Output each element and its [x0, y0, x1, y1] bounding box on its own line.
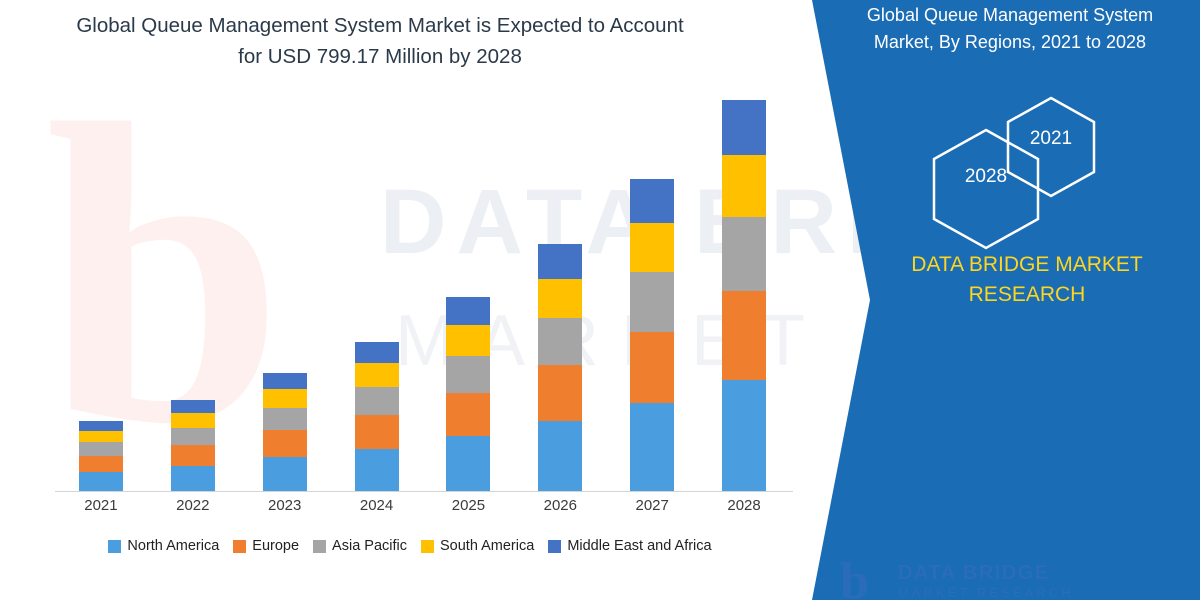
legend-swatch: [313, 540, 326, 553]
legend-swatch: [421, 540, 434, 553]
bar-segment: [538, 318, 582, 365]
legend-swatch: [233, 540, 246, 553]
footer-logo-letter: b: [840, 556, 869, 608]
brand-line-2: RESEARCH: [862, 280, 1192, 310]
bar-segment: [446, 297, 490, 324]
legend-swatch: [108, 540, 121, 553]
bar-group: [538, 244, 582, 492]
bar-segment: [630, 179, 674, 222]
footer-logo: b DATA BRIDGE MARKET RESEARCH: [840, 560, 1090, 600]
panel-title-line-2: Market, By Regions, 2021 to 2028: [830, 29, 1190, 56]
bar-segment: [79, 431, 123, 442]
footer-logo-line-1: DATA BRIDGE: [898, 562, 1050, 585]
page-title-line-1: Global Queue Management System Market is…: [0, 10, 760, 41]
hexagon-2021-label: 2021: [1005, 128, 1097, 150]
bar-segment: [171, 445, 215, 466]
bar-segment: [630, 332, 674, 403]
bar-segment: [263, 457, 307, 492]
panel-title-line-1: Global Queue Management System: [830, 2, 1190, 29]
bar-segment: [538, 279, 582, 319]
bar-segment: [446, 325, 490, 356]
bar-segment: [630, 272, 674, 332]
x-axis-label: 2026: [520, 497, 600, 514]
bar-segment: [171, 428, 215, 445]
brand-line-1: DATA BRIDGE MARKET: [862, 250, 1192, 280]
x-axis-label: 2023: [245, 497, 325, 514]
legend-item[interactable]: Asia Pacific: [313, 538, 407, 554]
bar-segment: [722, 380, 766, 492]
brand-name: DATA BRIDGE MARKET RESEARCH: [862, 250, 1192, 310]
bar-segment: [722, 100, 766, 155]
bar-segment: [446, 356, 490, 393]
bar-segment: [263, 389, 307, 408]
legend-item[interactable]: Middle East and Africa: [548, 538, 711, 554]
bar-segment: [263, 373, 307, 389]
panel-title: Global Queue Management System Market, B…: [830, 2, 1190, 56]
page-title-line-2: for USD 799.17 Million by 2028: [0, 41, 760, 72]
x-axis-line: [55, 491, 793, 492]
bar-segment: [79, 472, 123, 492]
x-axis-label: 2022: [153, 497, 233, 514]
chart-plot-area: [55, 95, 790, 492]
bar-segment: [79, 442, 123, 456]
legend-label: North America: [127, 538, 219, 554]
legend-label: Middle East and Africa: [567, 538, 711, 554]
bar-segment: [171, 400, 215, 412]
bar-segment: [722, 217, 766, 291]
bar-group: [722, 100, 766, 492]
bar-segment: [263, 408, 307, 430]
legend-item[interactable]: North America: [108, 538, 219, 554]
x-axis-label: 2024: [337, 497, 417, 514]
x-axis-label: 2021: [61, 497, 141, 514]
bar-group: [355, 342, 399, 492]
bar-group: [171, 400, 215, 492]
bar-segment: [446, 436, 490, 492]
bar-group: [79, 421, 123, 492]
footer-logo-line-2: MARKET RESEARCH: [898, 586, 1074, 600]
bar-segment: [79, 456, 123, 472]
bar-segment: [538, 421, 582, 492]
bar-segment: [171, 466, 215, 492]
x-axis-label: 2027: [612, 497, 692, 514]
legend-label: South America: [440, 538, 534, 554]
chart-legend: North AmericaEuropeAsia PacificSouth Ame…: [30, 538, 790, 554]
legend-label: Asia Pacific: [332, 538, 407, 554]
bar-segment: [263, 430, 307, 457]
bar-segment: [355, 449, 399, 492]
x-axis-label: 2028: [704, 497, 784, 514]
bar-segment: [446, 393, 490, 436]
legend-swatch: [548, 540, 561, 553]
bar-group: [446, 297, 490, 492]
bar-segment: [538, 244, 582, 279]
bar-segment: [630, 403, 674, 492]
bar-segment: [79, 421, 123, 431]
legend-label: Europe: [252, 538, 299, 554]
bar-group: [263, 373, 307, 492]
bar-segment: [355, 415, 399, 448]
bar-segment: [355, 342, 399, 363]
page-title: Global Queue Management System Market is…: [0, 10, 760, 72]
stacked-bar-chart: 20212022202320242025202620272028: [30, 95, 790, 495]
bar-segment: [722, 291, 766, 380]
x-axis-tick-labels: 20212022202320242025202620272028: [55, 497, 790, 523]
bar-segment: [722, 155, 766, 217]
bar-segment: [538, 365, 582, 421]
legend-item[interactable]: South America: [421, 538, 534, 554]
bar-segment: [171, 413, 215, 428]
bar-group: [630, 179, 674, 492]
legend-item[interactable]: Europe: [233, 538, 299, 554]
bar-segment: [355, 363, 399, 387]
x-axis-label: 2025: [428, 497, 508, 514]
bar-segment: [355, 387, 399, 416]
bar-segment: [630, 223, 674, 273]
